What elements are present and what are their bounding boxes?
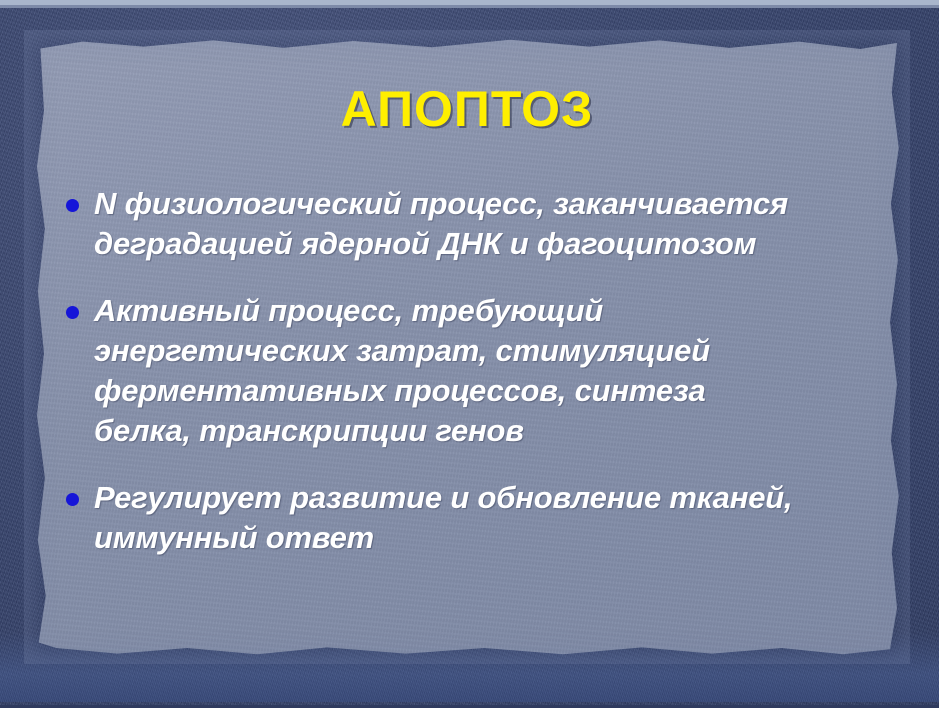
bullet-dot-icon	[66, 493, 79, 506]
bullet-list: N физиологический процесс, заканчивается…	[66, 184, 896, 558]
bullet-text: N физиологический процесс, заканчивается…	[94, 184, 896, 265]
slide-content: АПОПТОЗ N физиологический процесс, закан…	[30, 36, 904, 658]
list-item: N физиологический процесс, заканчивается…	[66, 184, 896, 265]
bullet-dot-icon	[66, 199, 79, 212]
bullet-text: Регулирует развитие и обновление тканей,…	[94, 478, 896, 559]
bullet-dot-icon	[66, 306, 79, 319]
bullet-text: Активный процесс, требующий энергетическ…	[94, 291, 896, 452]
list-item: Регулирует развитие и обновление тканей,…	[66, 478, 896, 559]
list-item: Активный процесс, требующий энергетическ…	[66, 291, 896, 452]
slide-title: АПОПТОЗ	[30, 80, 904, 138]
presentation-slide: АПОПТОЗ N физиологический процесс, закан…	[0, 0, 939, 708]
